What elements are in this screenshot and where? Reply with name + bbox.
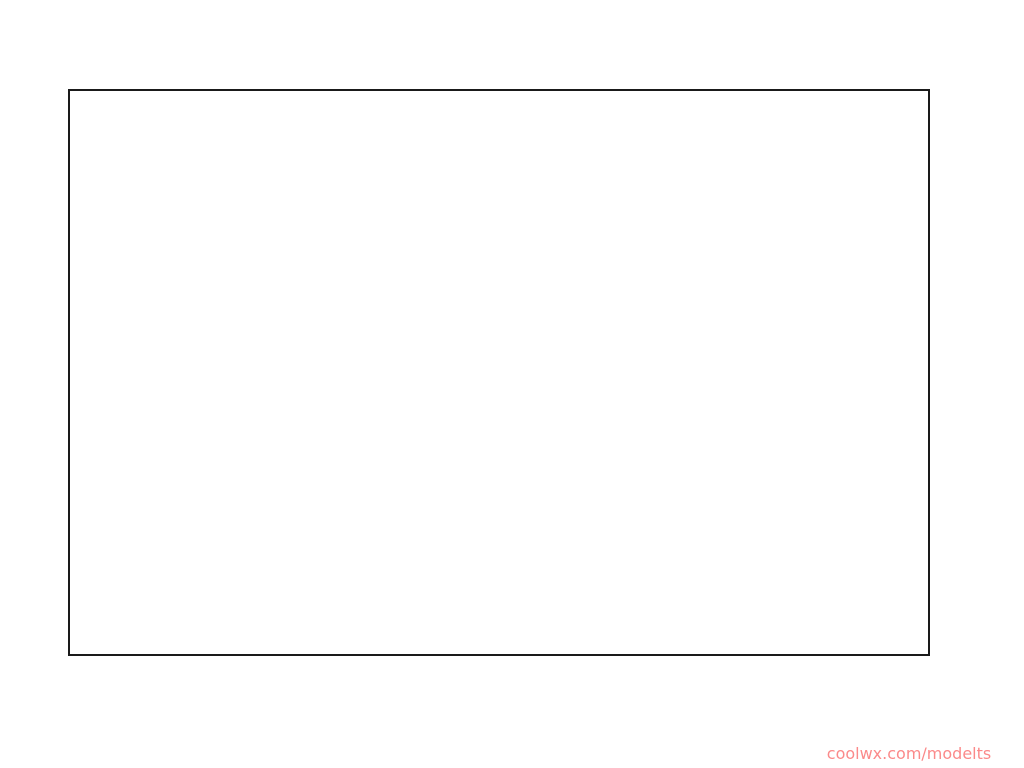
chart-page: coolwx.com/modelts xyxy=(0,0,1024,768)
heatmap-plot-area[interactable] xyxy=(68,89,930,656)
watermark: coolwx.com/modelts xyxy=(804,744,1014,763)
colorbar[interactable] xyxy=(940,310,970,485)
heatmap-cells xyxy=(70,91,928,654)
